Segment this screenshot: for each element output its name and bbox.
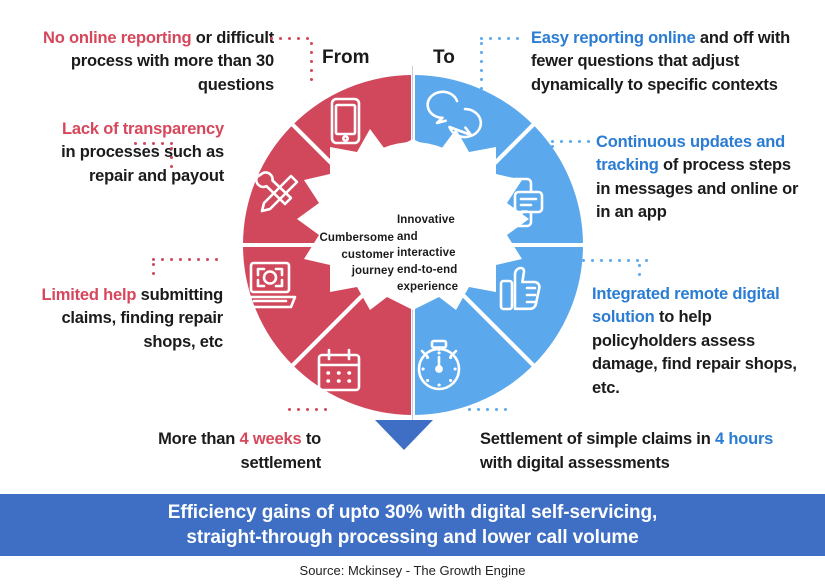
left-footer-text: More than 4 weeks to settlement bbox=[96, 428, 321, 476]
left-footer-pre: More than bbox=[158, 430, 239, 448]
hub-right-line-5: experience bbox=[397, 279, 487, 296]
hub-left-line-1: Cumbersome bbox=[290, 230, 394, 247]
right-footer-text: Settlement of simple claims in 4 hours w… bbox=[480, 428, 775, 476]
right-item-2-text: Continuous updates and tracking of proce… bbox=[596, 131, 804, 225]
banner-line-1: Efficiency gains of upto 30% with digita… bbox=[168, 500, 657, 525]
hub-right-line-4: end-to-end bbox=[397, 262, 487, 279]
left-item-2-rest: in processes such as repair and payout bbox=[61, 143, 224, 184]
source-note: Source: Mckinsey - The Growth Engine bbox=[0, 563, 825, 578]
down-arrow-icon bbox=[375, 420, 433, 450]
label-to: To bbox=[433, 47, 455, 69]
hub-left-line-2: customer bbox=[290, 247, 394, 264]
left-item-3-text: Limited help submitting claims, finding … bbox=[28, 284, 223, 354]
right-footer-highlight: 4 hours bbox=[715, 430, 773, 448]
right-footer-post: with digital assessments bbox=[480, 454, 670, 472]
hub-left-line-3: journey bbox=[290, 263, 394, 280]
right-footer-pre: Settlement of simple claims in bbox=[480, 430, 715, 448]
left-item-1-highlight: No online reporting bbox=[43, 29, 191, 47]
left-item-2-highlight: Lack of transparency bbox=[62, 120, 224, 138]
left-footer-highlight: 4 weeks bbox=[240, 430, 302, 448]
right-item-1-highlight: Easy reporting online bbox=[531, 29, 696, 47]
hub-right-line-3: interactive bbox=[397, 245, 487, 262]
hub-label-right: Innovative and interactive end-to-end ex… bbox=[397, 212, 487, 295]
left-item-3-highlight: Limited help bbox=[42, 286, 137, 304]
hub-label-left: Cumbersome customer journey bbox=[290, 230, 394, 280]
summary-banner: Efficiency gains of upto 30% with digita… bbox=[0, 494, 825, 556]
hub-right-line-2: and bbox=[397, 229, 487, 246]
right-item-3-text: Integrated remote digital solution to he… bbox=[592, 283, 804, 400]
left-item-2-text: Lack of transparency in processes such a… bbox=[46, 118, 224, 188]
banner-line-2: straight-through processing and lower ca… bbox=[168, 525, 657, 550]
hub-right-line-1: Innovative bbox=[397, 212, 487, 229]
infographic-root: No online reporting or difficult process… bbox=[0, 0, 825, 588]
label-from: From bbox=[322, 47, 370, 69]
